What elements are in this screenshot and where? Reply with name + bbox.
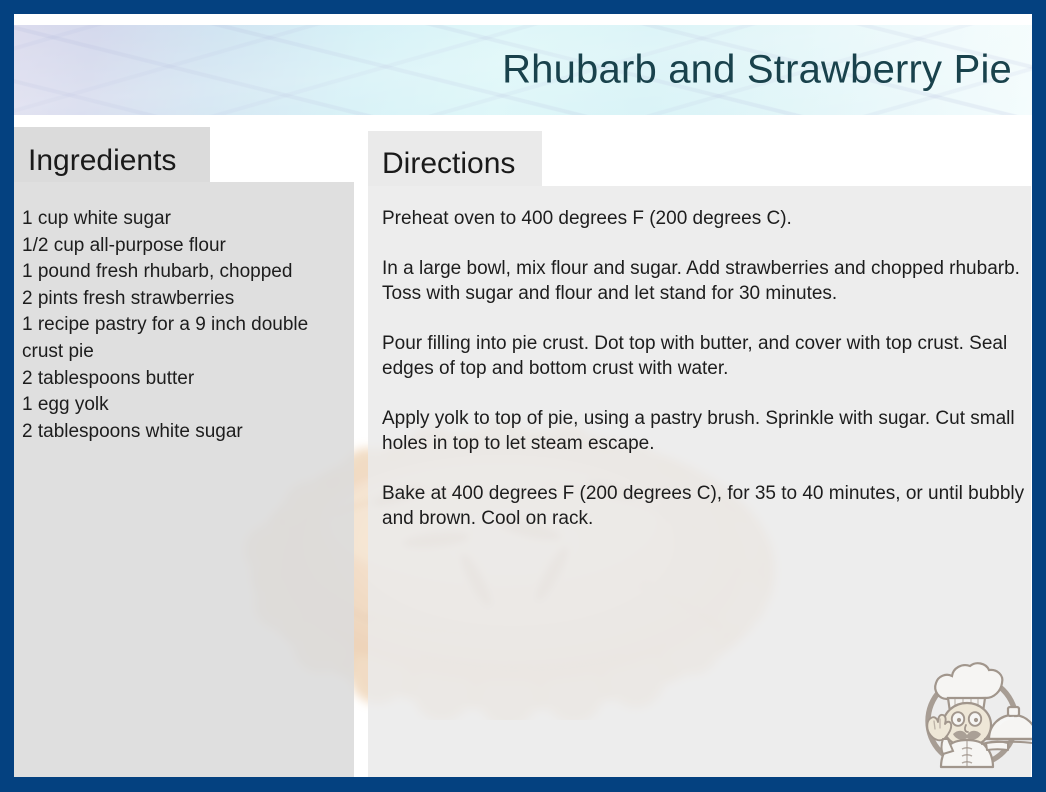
ingredient-item: 2 tablespoons white sugar bbox=[22, 419, 352, 446]
direction-step: Apply yolk to top of pie, using a pastry… bbox=[382, 406, 1026, 456]
ingredient-item: 1 cup white sugar bbox=[22, 206, 352, 233]
ingredient-item: 1 pound fresh rhubarb, chopped bbox=[22, 259, 352, 286]
direction-step: In a large bowl, mix flour and sugar. Ad… bbox=[382, 256, 1026, 306]
ingredients-panel: 1 cup white sugar 1/2 cup all-purpose fl… bbox=[14, 182, 354, 777]
direction-step: Pour filling into pie crust. Dot top wit… bbox=[382, 331, 1026, 381]
directions-tab: Directions bbox=[368, 131, 542, 186]
direction-step: Bake at 400 degrees F (200 degrees C), f… bbox=[382, 481, 1026, 531]
ingredient-item: 1 recipe pastry for a 9 inch double crus… bbox=[22, 312, 352, 365]
ingredient-item: 1/2 cup all-purpose flour bbox=[22, 233, 352, 260]
ingredients-heading: Ingredients bbox=[28, 144, 176, 178]
directions-body: Preheat oven to 400 degrees F (200 degre… bbox=[382, 206, 1026, 531]
ingredient-item: 2 pints fresh strawberries bbox=[22, 286, 352, 313]
directions-panel: Preheat oven to 400 degrees F (200 degre… bbox=[368, 186, 1031, 777]
direction-step: Preheat oven to 400 degrees F (200 degre… bbox=[382, 206, 1026, 231]
ingredients-tab: Ingredients bbox=[14, 127, 210, 182]
ingredient-item: 2 tablespoons butter bbox=[22, 366, 352, 393]
recipe-card: Rhubarb and Strawberry Pie bbox=[0, 0, 1046, 792]
title-banner: Rhubarb and Strawberry Pie bbox=[14, 25, 1032, 115]
directions-heading: Directions bbox=[382, 147, 515, 181]
recipe-page: Rhubarb and Strawberry Pie bbox=[14, 14, 1032, 777]
recipe-title: Rhubarb and Strawberry Pie bbox=[502, 48, 1012, 93]
ingredients-list: 1 cup white sugar 1/2 cup all-purpose fl… bbox=[22, 206, 352, 445]
ingredient-item: 1 egg yolk bbox=[22, 392, 352, 419]
